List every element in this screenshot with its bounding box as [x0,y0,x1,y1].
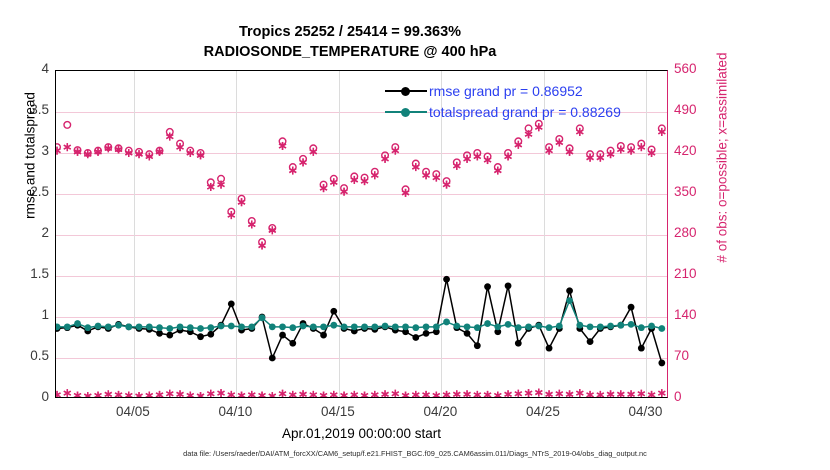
data-point [259,314,266,321]
data-point [238,323,245,330]
obs-assimilated-marker [392,147,399,155]
data-point [576,322,583,329]
obs-assimilated-marker [248,220,255,228]
obs-rejected-marker [464,390,471,397]
obs-rejected-marker [289,391,296,397]
obs-assimilated-marker [494,167,501,175]
obs-assimilated-marker [607,150,614,158]
data-point [535,323,542,330]
obs-assimilated-marker [576,128,583,136]
title-line-2: RADIOSONDE_TEMPERATURE @ 400 hPa [0,42,700,62]
obs-assimilated-marker [412,163,419,171]
data-point [177,323,184,330]
obs-assimilated-marker [505,153,512,161]
obs-rejected-marker [412,391,419,397]
obs-rejected-marker [361,391,368,397]
obs-assimilated-marker [443,181,450,189]
obs-assimilated-marker [515,141,522,149]
x-tick-04-20: 04/20 [424,404,458,419]
obs-rejected-marker [207,390,214,397]
obs-assimilated-marker [300,158,307,166]
obs-rejected-marker [658,389,665,397]
obs-rejected-marker [105,390,112,397]
data-point [146,323,153,330]
data-point [484,283,491,290]
obs-rejected-marker [566,390,573,397]
y-tick-right-140: 140 [674,307,716,322]
data-point [371,323,378,330]
obs-assimilated-marker [259,242,266,250]
data-point [105,323,112,330]
obs-rejected-marker [648,391,655,397]
obs-rejected-marker [136,392,143,397]
data-point [228,300,235,307]
data-point [638,324,645,331]
obs-rejected-marker [115,391,122,397]
obs-rejected-marker [310,391,317,397]
y-axis-right-ticks: 070140210280350420490560 [674,70,720,398]
obs-assimilated-marker [289,167,296,175]
data-point [248,323,255,330]
obs-rejected-marker [64,389,71,397]
data-point [556,323,563,330]
obs-rejected-marker [228,391,235,397]
data-point [412,334,419,341]
obs-rejected-marker [177,390,184,397]
data-point [392,323,399,330]
obs-assimilated-marker [484,156,491,164]
obs-assimilated-marker [556,138,563,146]
obs-rejected-marker [371,391,378,397]
data-point [484,320,491,327]
obs-assimilated-marker [382,155,389,163]
x-tick-04-10: 04/10 [219,404,253,419]
data-point [207,331,214,338]
data-point [617,322,624,329]
data-point [546,324,553,331]
data-point [125,323,132,330]
data-point [443,319,450,326]
obs-assimilated-marker [371,171,378,179]
data-point [84,324,91,331]
obs-assimilated-marker [546,147,553,155]
data-point [658,360,665,367]
data-point [341,323,348,330]
obs-rejected-marker [248,391,255,397]
legend-item-rmse: rmse grand pr = 0.86952 [385,80,665,101]
obs-rejected-marker [638,390,645,397]
obs-rejected-marker [587,391,594,397]
data-point [546,345,553,352]
data-point [597,323,604,330]
obs-assimilated-marker [648,149,655,157]
chart-page: Tropics 25252 / 25414 = 99.363% RADIOSON… [0,0,830,470]
obs-assimilated-marker [351,176,358,184]
obs-assimilated-marker [238,198,245,206]
data-point [464,330,471,337]
obs-rejected-marker [95,391,102,397]
obs-rejected-marker [146,391,153,397]
data-point [197,333,204,340]
obs-rejected-marker [453,390,460,397]
x-axis-label: Apr.01,2019 00:00:00 start [55,426,668,441]
data-point [505,282,512,289]
obs-assimilated-marker [177,143,184,151]
obs-rejected-marker [74,391,81,397]
obs-assimilated-marker [320,184,327,192]
obs-assimilated-marker [402,189,409,197]
obs-rejected-marker [218,389,225,397]
obs-rejected-marker [330,391,337,397]
y-tick-right-420: 420 [674,143,716,158]
obs-rejected-marker [494,391,501,397]
obs-rejected-marker [433,391,440,397]
y-tick-right-280: 280 [674,225,716,240]
obs-rejected-marker [238,391,245,397]
data-point [587,338,594,345]
y-tick-right-560: 560 [674,61,716,76]
obs-rejected-marker [617,390,624,397]
obs-rejected-marker [166,390,173,397]
legend-marker-rmse [385,84,427,98]
obs-rejected-marker [525,389,532,397]
data-point [74,320,81,327]
obs-rejected-marker [392,390,399,397]
obs-rejected-marker [484,391,491,397]
y-tick-left-1: 1 [3,307,49,322]
y-tick-right-350: 350 [674,184,716,199]
obs-rejected-marker [351,391,358,397]
data-point [269,355,276,362]
obs-rejected-marker [279,390,286,397]
data-point [279,332,286,339]
data-point [320,332,327,339]
obs-assimilated-marker [638,143,645,151]
y-axis-left-label: rmse and totalspread [23,6,38,306]
page-title: Tropics 25252 / 25414 = 99.363% RADIOSON… [0,22,700,62]
data-point [566,297,573,304]
data-point [166,332,173,339]
data-point [638,345,645,352]
data-point [330,308,337,315]
data-point [412,324,419,331]
data-point [453,323,460,330]
legend-label-rmse: rmse grand pr = 0.86952 [427,83,583,99]
y-tick-right-210: 210 [674,266,716,281]
data-point [628,304,635,311]
data-point [279,323,286,330]
obs-rejected-marker [505,390,512,397]
obs-rejected-marker [259,391,266,397]
data-point [115,322,122,329]
legend-marker-totalspread [385,105,427,119]
data-point [310,323,317,330]
data-point [474,324,481,331]
obs-rejected-marker [84,392,91,397]
obs-rejected-marker [156,391,163,397]
data-point [515,340,522,347]
obs-assimilated-marker [433,174,440,182]
obs-rejected-marker [535,389,542,397]
obs-rejected-marker [628,390,635,397]
obs-assimilated-marker [474,153,481,161]
legend-item-totalspread: totalspread grand pr = 0.88269 [385,101,665,122]
legend-label-totalspread: totalspread grand pr = 0.88269 [427,104,621,120]
data-point [433,323,440,330]
data-point [187,324,194,331]
obs-assimilated-marker [566,148,573,156]
data-point [525,323,532,330]
x-tick-04-15: 04/15 [321,404,355,419]
data-point [320,323,327,330]
data-point [474,342,481,349]
obs-assimilated-marker [658,128,665,136]
data-point [218,323,225,330]
data-point [505,321,512,328]
y-tick-left-0.5: 0.5 [3,348,49,363]
y-tick-right-70: 70 [674,348,716,363]
title-line-1: Tropics 25252 / 25414 = 99.363% [0,22,700,42]
obs-assimilated-marker [330,178,337,186]
x-tick-04-30: 04/30 [629,404,663,419]
obs-rejected-marker [556,390,563,397]
obs-rejected-marker [300,390,307,397]
data-point [648,323,655,330]
obs-rejected-marker [474,391,481,397]
obs-rejected-marker [197,392,204,397]
obs-assimilated-marker [310,148,317,156]
data-point [464,323,471,330]
obs-rejected-marker [341,391,348,397]
obs-assimilated-marker [535,123,542,131]
data-point [423,330,430,337]
data-point [587,323,594,330]
data-point [228,323,235,330]
data-point [402,323,409,330]
data-point [269,323,276,330]
legend: rmse grand pr = 0.86952 totalspread gran… [385,80,665,122]
data-point [289,324,296,331]
data-point [515,324,522,331]
data-point [136,323,143,330]
y-tick-left-0: 0 [3,389,49,404]
obs-rejected-marker [402,391,409,397]
data-point [494,323,501,330]
obs-assimilated-marker [597,154,604,162]
obs-assimilated-marker [341,188,348,196]
obs-possible-marker [64,122,71,129]
obs-rejected-marker [546,390,553,397]
data-point [64,323,71,330]
obs-rejected-marker [320,391,327,397]
y-axis-right-label: # of obs: o=possible; x=assimilated [715,8,730,308]
obs-rejected-marker [125,391,132,397]
footer-data-file: data file: /Users/raeder/DAI/ATM_forcXX/… [0,449,830,458]
data-point [351,323,358,330]
y-tick-right-0: 0 [674,389,716,404]
data-point [156,324,163,331]
obs-rejected-marker [382,390,389,397]
obs-assimilated-marker [464,155,471,163]
obs-rejected-marker [269,392,276,397]
obs-rejected-marker [576,389,583,397]
data-point [330,322,337,329]
data-point [628,321,635,328]
y-tick-right-490: 490 [674,102,716,117]
obs-rejected-marker [443,391,450,397]
obs-rejected-marker [423,391,430,397]
obs-rejected-marker [597,391,604,397]
data-point [423,323,430,330]
obs-rejected-marker [515,390,522,397]
data-point [95,323,102,330]
data-point [300,323,307,330]
obs-assimilated-marker [228,211,235,219]
obs-assimilated-marker [628,147,635,155]
obs-assimilated-marker [423,171,430,179]
data-point [607,323,614,330]
obs-rejected-marker [187,391,194,397]
data-point [361,323,368,330]
data-point [166,325,173,332]
obs-assimilated-marker [587,154,594,162]
data-point [443,276,450,283]
data-point [289,340,296,347]
x-tick-04-05: 04/05 [116,404,150,419]
obs-assimilated-marker [361,177,368,185]
data-point [197,325,204,332]
data-point [207,324,214,331]
obs-assimilated-marker [453,162,460,170]
x-tick-04-25: 04/25 [526,404,560,419]
data-point [658,325,665,332]
obs-assimilated-marker [64,143,71,151]
obs-rejected-marker [607,390,614,397]
data-point [382,323,389,330]
obs-assimilated-marker [617,145,624,153]
obs-rejected-marker [56,391,60,397]
data-point [566,287,573,294]
